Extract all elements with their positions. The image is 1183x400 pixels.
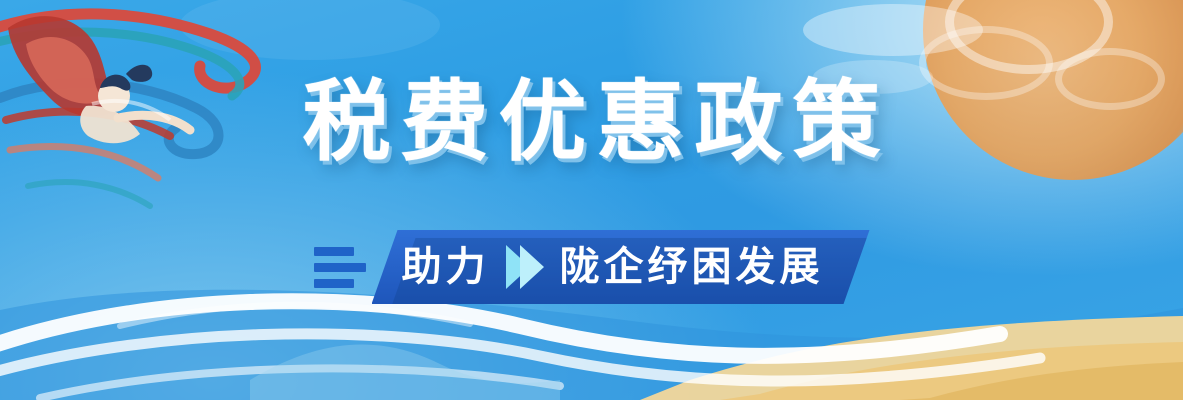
chevron-right-icon <box>506 245 534 289</box>
subtitle-container: 助力 陇企纾困发展 <box>0 230 1183 304</box>
page-title: 税费优惠政策 <box>292 78 890 166</box>
subtitle-right-text: 陇企纾困发展 <box>560 247 824 287</box>
subtitle-left-text: 助力 <box>402 247 490 287</box>
dash-marks-icon <box>314 247 366 288</box>
subtitle-plate: 助力 陇企纾困发展 <box>372 230 870 304</box>
title-container: 税费优惠政策 <box>0 78 1183 166</box>
cloud-icon <box>803 4 983 56</box>
promo-banner: 税费优惠政策 助力 陇企纾困发展 <box>0 0 1183 400</box>
subtitle-band: 助力 陇企纾困发展 <box>314 230 870 304</box>
